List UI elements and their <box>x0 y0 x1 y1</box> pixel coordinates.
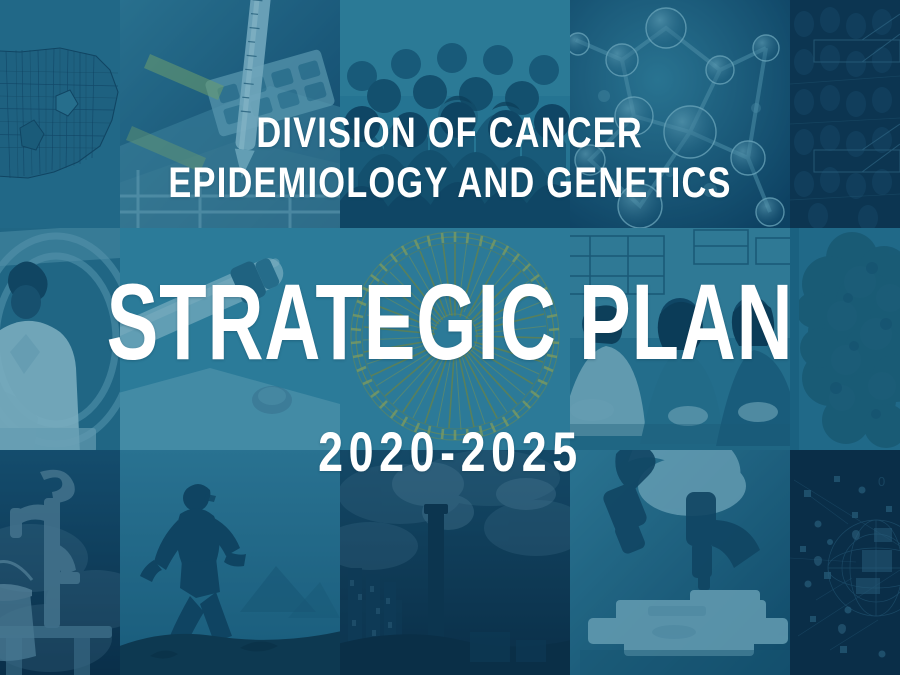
poster-text-overlay: DIVISION OF CANCER EPIDEMIOLOGY AND GENE… <box>0 0 900 675</box>
organization-line-2: EPIDEMIOLOGY AND GENETICS <box>168 162 731 206</box>
page-title: STRATEGIC PLAN <box>107 268 794 376</box>
strategic-plan-poster: 0 DIVISION OF CANCER EPIDEMIOLOGY AND GE… <box>0 0 900 675</box>
organization-line-1: DIVISION OF CANCER <box>257 112 644 156</box>
plan-date-range: 2020-2025 <box>318 424 583 480</box>
